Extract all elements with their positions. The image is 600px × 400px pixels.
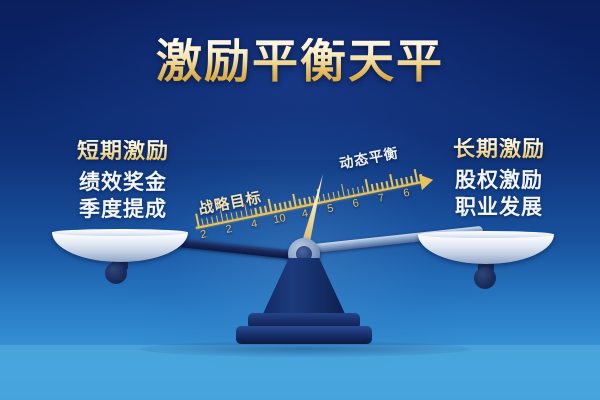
pan-right-knob — [474, 267, 496, 289]
ruler-tick — [376, 183, 379, 190]
ruler-number: 2 — [199, 228, 207, 241]
scale-column — [262, 258, 346, 316]
ruler-tick — [357, 187, 360, 194]
page-title: 激励平衡天平 — [0, 38, 600, 84]
ruler-tick — [389, 174, 393, 187]
ruler-tick — [292, 194, 296, 207]
ruler-number: 4 — [250, 218, 258, 231]
ruler-tick — [235, 212, 238, 219]
right-panel-item-1: 股权激励 — [424, 170, 574, 191]
ruler-tick — [211, 217, 214, 224]
ruler-tick — [268, 199, 272, 212]
ruler-tick — [195, 214, 199, 227]
ruler-tick — [240, 211, 243, 218]
ruler-tick — [284, 202, 287, 209]
left-panel-item-2: 季度提成 — [48, 199, 198, 220]
poster-canvas: 激励平衡天平 短期激励 绩效奖金 季度提成 长期激励 股权激励 职业发展 224… — [0, 0, 600, 400]
base-slab-bottom — [236, 326, 372, 344]
ruler-tick — [381, 182, 384, 189]
ruler-tick — [327, 193, 330, 200]
right-panel: 长期激励 股权激励 职业发展 — [424, 138, 574, 224]
ruler-tick — [400, 178, 403, 185]
ruler-tick — [332, 192, 335, 199]
ruler-tick — [201, 218, 204, 225]
ruler-tick — [226, 214, 229, 221]
ruler-tick — [250, 209, 253, 216]
ruler-tick — [386, 181, 389, 188]
ruler-tick — [206, 217, 209, 224]
right-panel-heading: 长期激励 — [424, 138, 574, 160]
left-panel-item-1: 绩效奖金 — [48, 172, 198, 193]
ruler-tick — [279, 203, 282, 210]
ruler-tick — [361, 186, 364, 193]
ruler-tick — [371, 184, 374, 191]
ruler-tick — [264, 206, 267, 213]
ruler-number: 7 — [377, 192, 385, 205]
pan-left-knob — [105, 262, 127, 284]
ruler-tick — [405, 177, 408, 184]
left-panel: 短期激励 绩效奖金 季度提成 — [48, 140, 198, 226]
left-panel-heading: 短期激励 — [48, 140, 198, 162]
ruler-tick — [337, 191, 340, 198]
ruler-number: 10 — [272, 212, 286, 226]
ruler-tick — [323, 194, 326, 201]
floor-plane — [0, 345, 600, 400]
ruler-tick — [298, 199, 301, 206]
ruler-tick — [259, 207, 262, 214]
ruler-tick — [410, 176, 413, 183]
ruler-tick — [341, 184, 345, 197]
ruler-number: 6 — [352, 197, 360, 210]
ruler-tick — [274, 204, 277, 211]
ruler-number: 4 — [301, 207, 309, 220]
pan-right — [418, 234, 554, 264]
ruler-tick — [255, 208, 258, 215]
ruler-tick — [414, 169, 418, 182]
ruler-tick — [365, 179, 369, 192]
pan-left — [52, 232, 188, 262]
ruler-tick — [395, 179, 398, 186]
ruler-tick — [289, 201, 292, 208]
ruler-tick — [352, 188, 355, 195]
right-panel-item-2: 职业发展 — [424, 197, 574, 218]
ruler-number: 5 — [326, 202, 334, 215]
ruler-tick — [308, 197, 311, 204]
ruler-number: 2 — [225, 223, 233, 236]
ruler-tick — [216, 216, 219, 223]
ruler-tick — [303, 198, 306, 205]
ruler-tick — [230, 213, 233, 220]
ruler-tick — [347, 189, 350, 196]
pan-right-lip — [418, 231, 554, 238]
pan-left-lip — [52, 229, 188, 236]
ruler-number: 6 — [402, 187, 410, 200]
